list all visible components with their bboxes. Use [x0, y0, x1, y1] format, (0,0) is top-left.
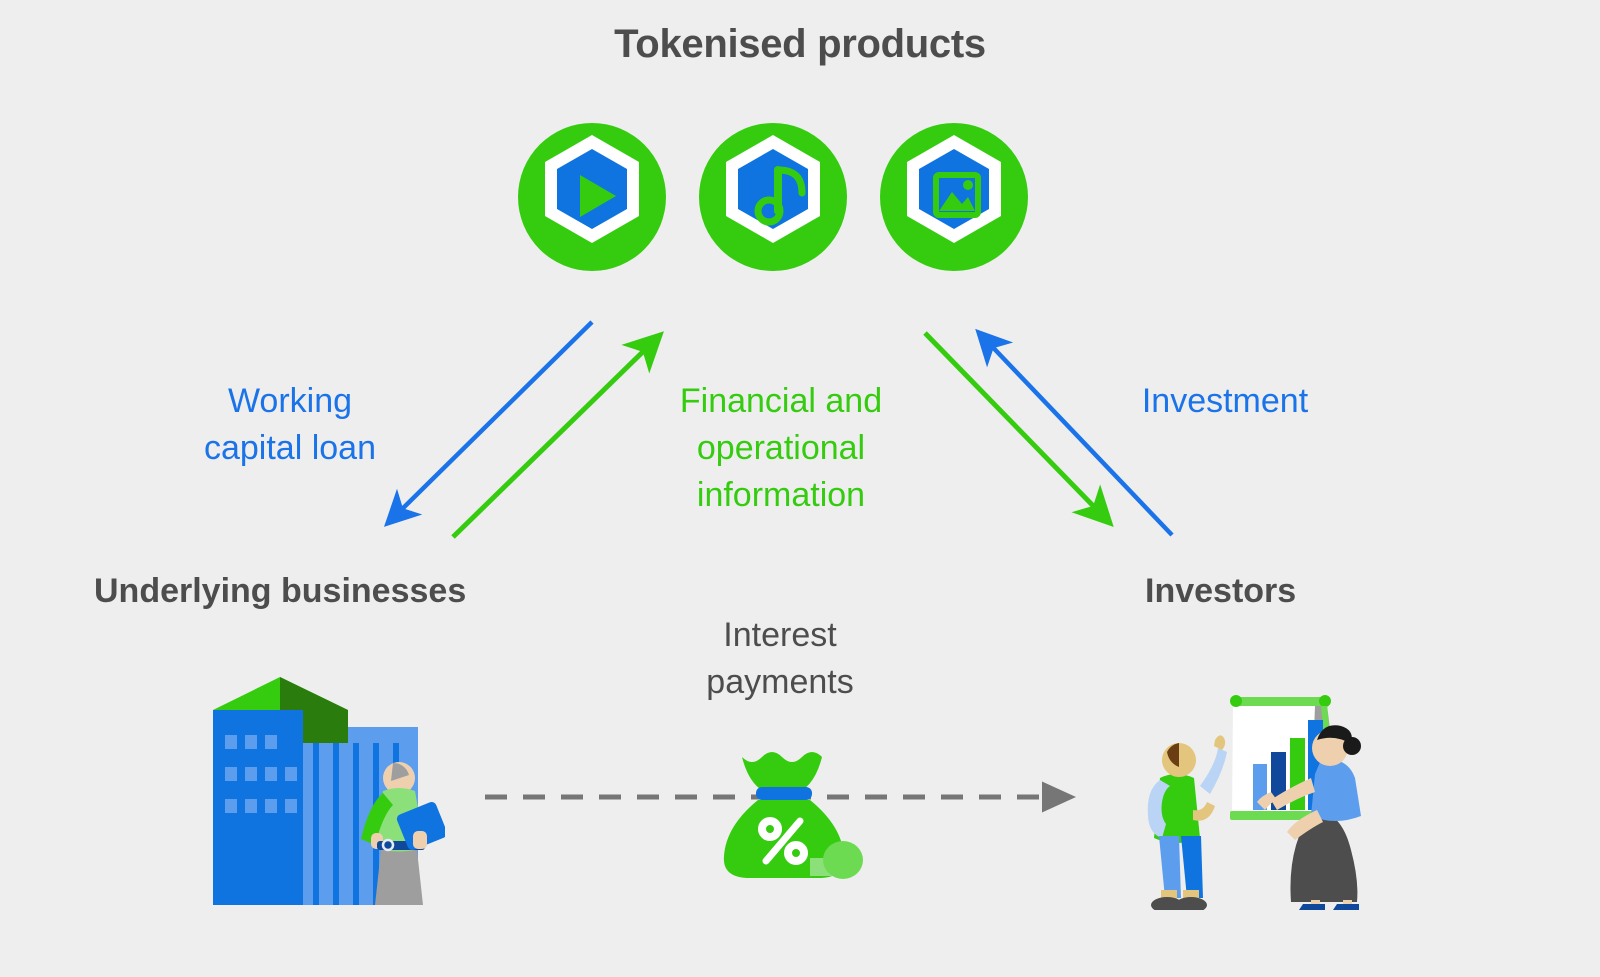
page-title: Tokenised products	[0, 22, 1600, 67]
label-investment: Investment	[1090, 378, 1360, 425]
money-bag-illustration	[700, 725, 870, 885]
label-financial-information: Financial and operational information	[626, 378, 936, 519]
image-icon	[880, 113, 1028, 281]
label-interest-payments: Interest payments	[640, 612, 920, 706]
play-icon	[518, 113, 666, 281]
arrow-investment	[983, 337, 1172, 535]
music-token[interactable]	[699, 113, 847, 281]
investors-illustration	[1105, 660, 1385, 915]
tokenised-products-row	[518, 112, 1028, 282]
arrow-returns-to-investors	[925, 333, 1105, 518]
heading-underlying-businesses: Underlying businesses	[94, 572, 466, 611]
arrow-financial-information	[453, 340, 655, 537]
heading-investors: Investors	[1145, 572, 1296, 611]
music-note-icon	[699, 113, 847, 281]
label-working-capital-loan: Working capital loan	[140, 378, 440, 472]
investor-man-figure	[1148, 735, 1227, 910]
video-token[interactable]	[518, 113, 666, 281]
office-buildings-illustration	[185, 655, 445, 910]
diagram-canvas: Tokenised products	[0, 0, 1600, 977]
image-token[interactable]	[880, 113, 1028, 281]
